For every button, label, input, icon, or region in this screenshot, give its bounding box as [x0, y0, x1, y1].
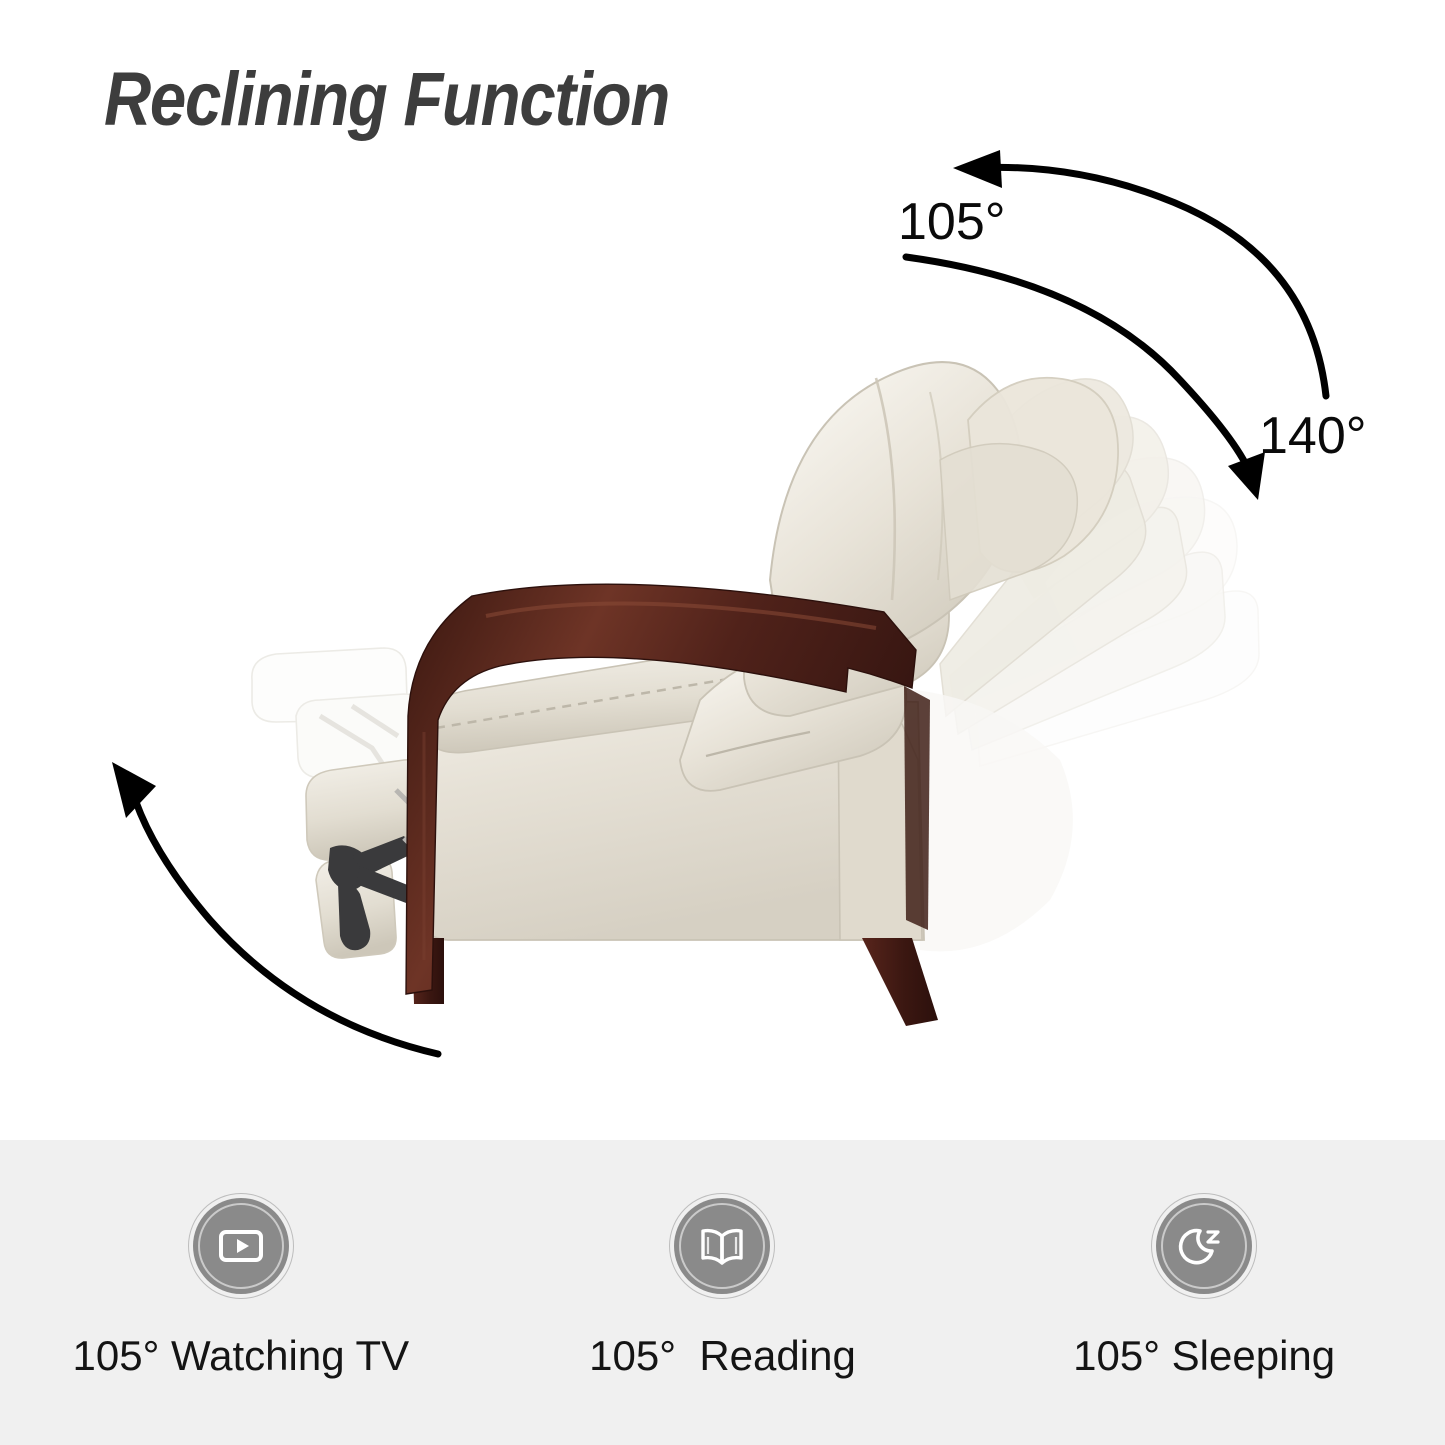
recliner-illustration	[0, 0, 1445, 1140]
tv-play-icon	[193, 1198, 289, 1294]
infographic-page: Reclining Function 105° 140° 105° Watchi…	[0, 0, 1445, 1445]
moon-sleep-icon	[1156, 1198, 1252, 1294]
page-title: Reclining Function	[104, 56, 669, 143]
feature-item-watching-tv: 105° Watching TV	[31, 1198, 451, 1380]
feature-label-sleeping: 105° Sleeping	[1073, 1332, 1335, 1380]
angle-label-140: 140°	[1259, 406, 1367, 466]
ghost-footrest-raised	[252, 648, 430, 778]
feature-label-watching-tv: 105° Watching TV	[73, 1332, 410, 1380]
chair-rear-leg	[862, 938, 938, 1026]
product-hero-area: Reclining Function 105° 140°	[0, 0, 1445, 1140]
feature-bar: 105° Watching TV 105° Reading	[0, 1140, 1445, 1445]
feature-item-reading: 105° Reading	[512, 1198, 932, 1380]
open-book-icon	[674, 1198, 770, 1294]
angle-105-arc	[953, 150, 1326, 396]
feature-label-reading: 105° Reading	[589, 1332, 856, 1380]
angle-label-105: 105°	[898, 192, 1006, 252]
feature-item-sleeping: 105° Sleeping	[994, 1198, 1414, 1380]
